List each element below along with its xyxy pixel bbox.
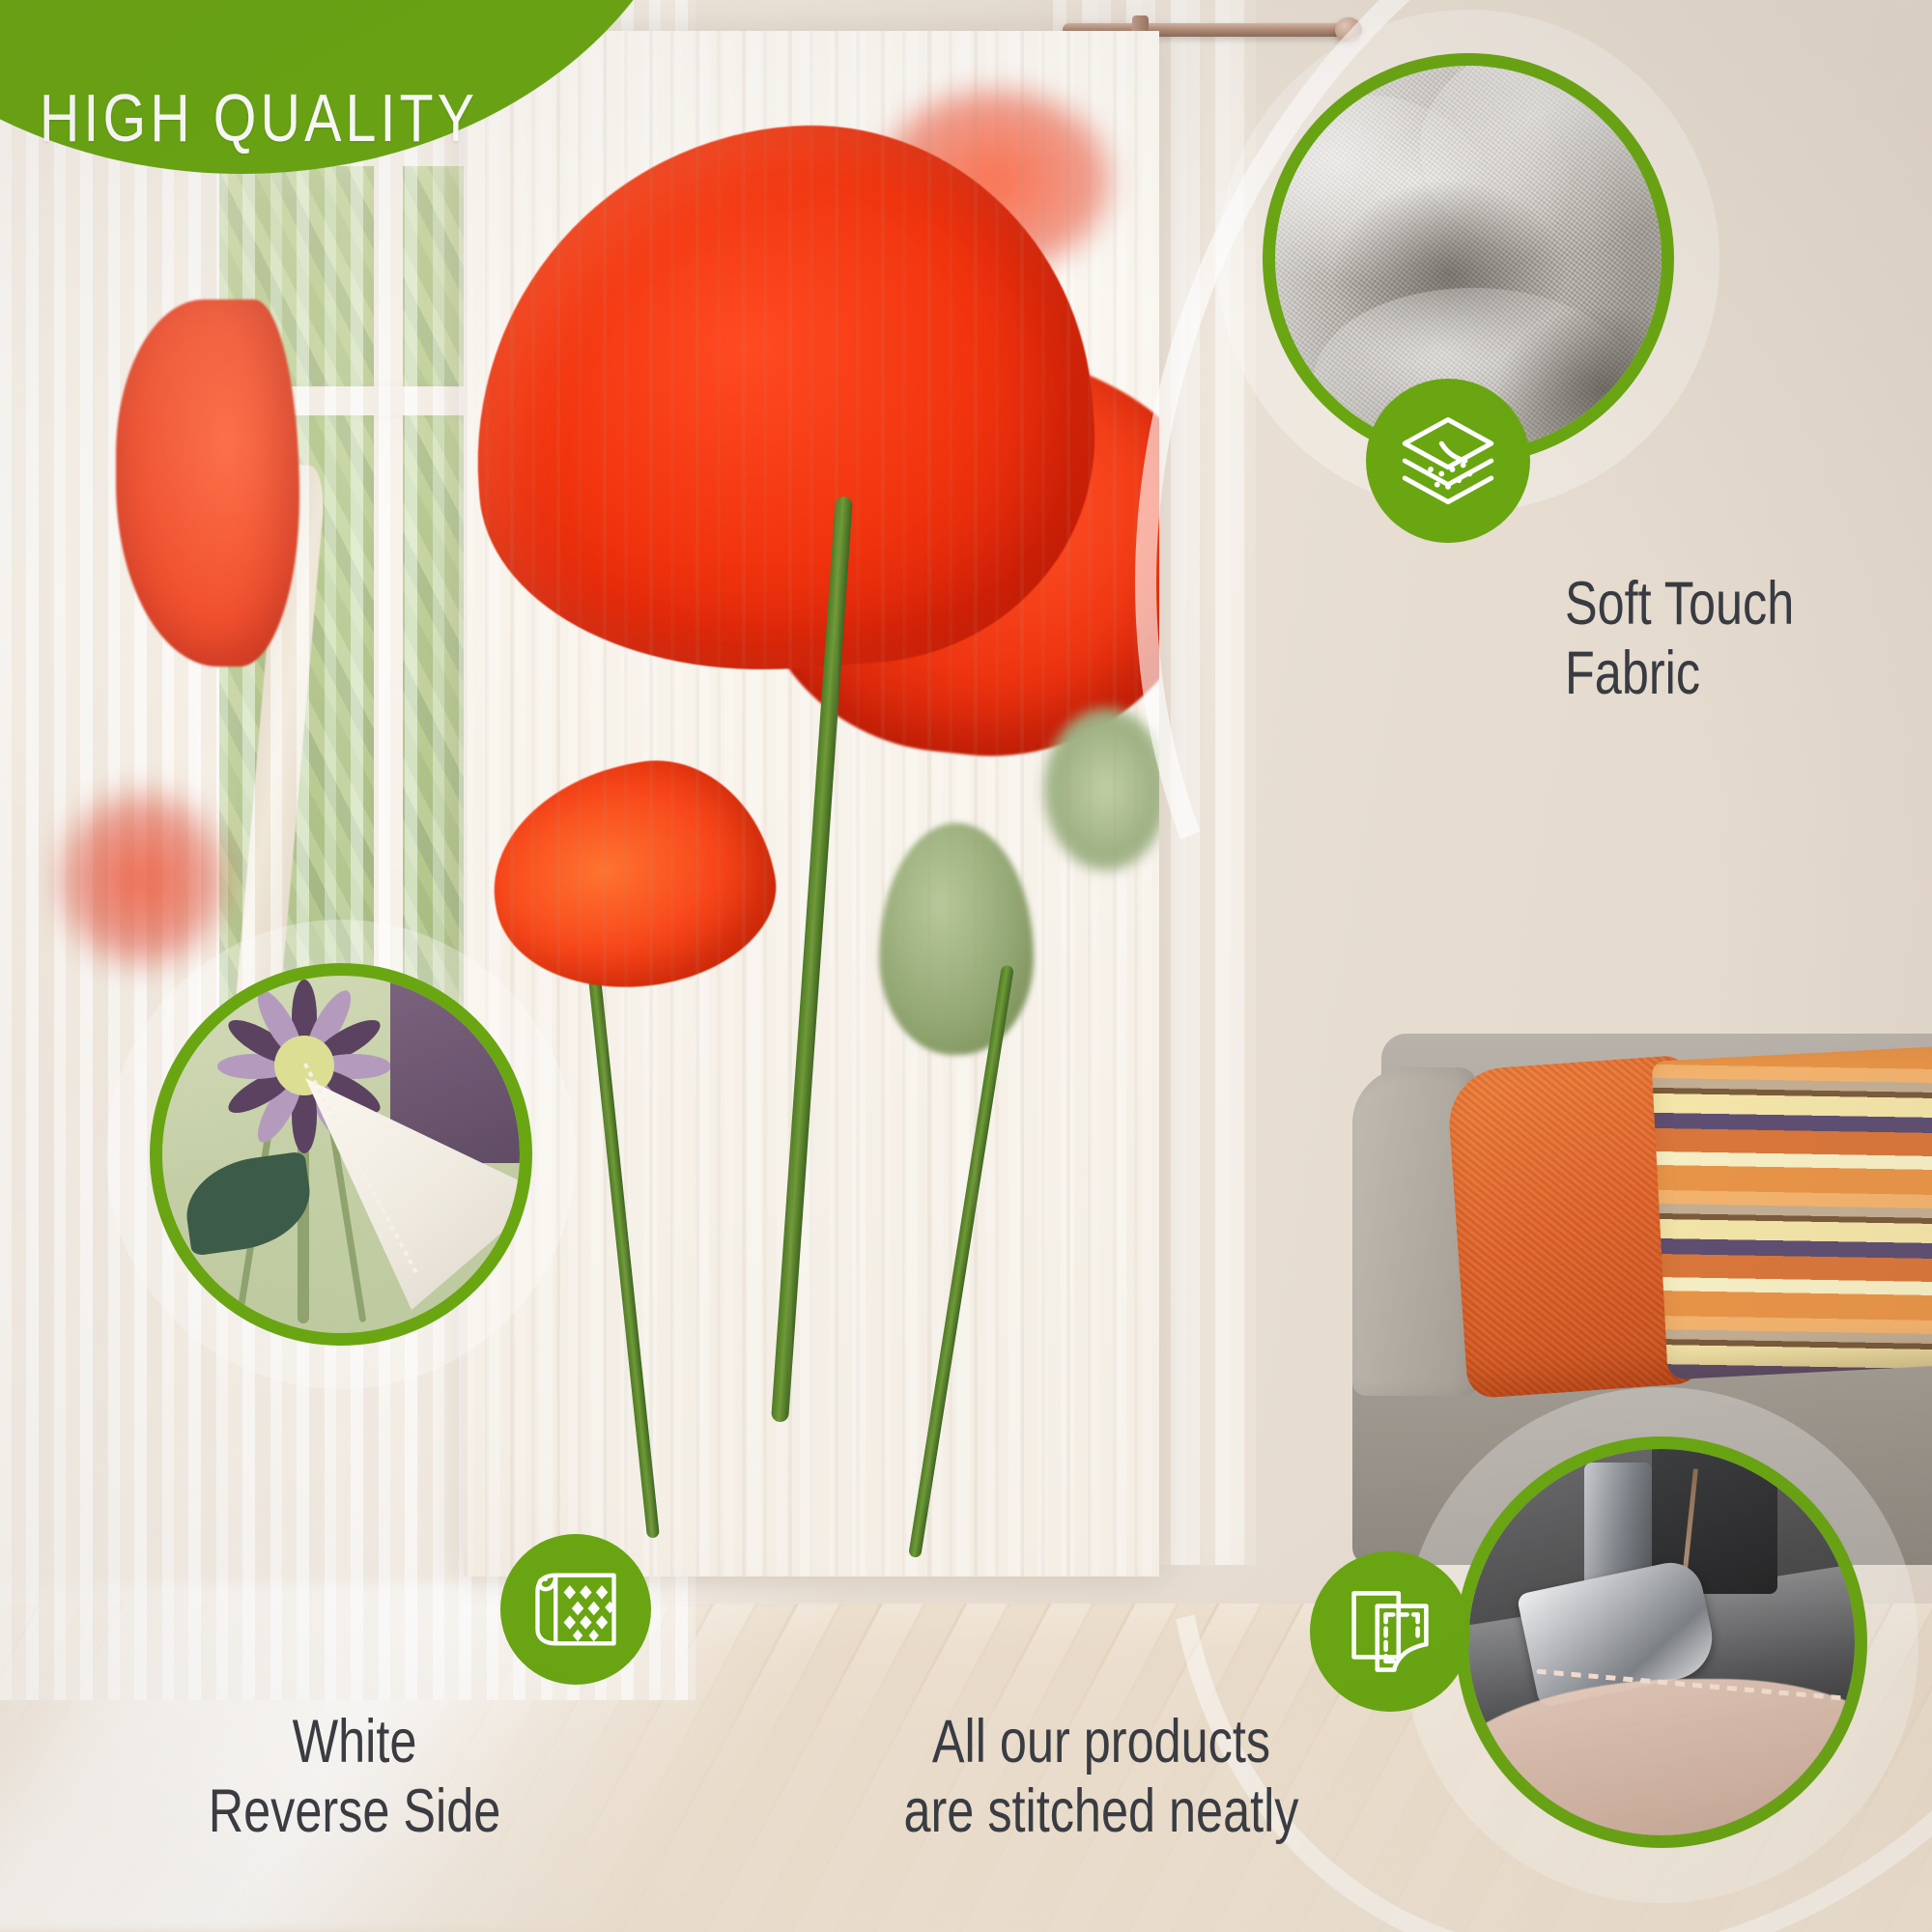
curtain-rod-finial bbox=[1335, 17, 1362, 43]
inset-stitching-photo bbox=[1468, 1449, 1855, 1835]
caption-white-reverse-side: White Reverse Side bbox=[103, 1708, 606, 1847]
inset-white-reverse-photo bbox=[162, 976, 520, 1333]
stitched-panels-icon bbox=[1310, 1551, 1470, 1712]
caption-soft-touch-fabric: Soft Touch Fabric bbox=[1565, 570, 1794, 709]
daisy-leaf bbox=[180, 1151, 317, 1256]
striped-throw-pillow bbox=[1652, 1045, 1932, 1380]
poppy-small bbox=[475, 743, 790, 1010]
fabric-layers-icon bbox=[1366, 379, 1530, 543]
high-quality-label: HIGH QUALITY bbox=[40, 79, 478, 156]
foliage-blur bbox=[1043, 707, 1159, 871]
poppy-stem-left bbox=[586, 961, 660, 1539]
fabric-roll-icon bbox=[500, 1534, 651, 1685]
product-marketing-image: HIGH QUALITY Soft Touch Fabric White Rev… bbox=[0, 0, 1932, 1932]
caption-stitched-neatly: All our products are stitched neatly bbox=[761, 1708, 1441, 1847]
printed-curtain-panel bbox=[464, 31, 1159, 1577]
poppy-bud bbox=[879, 823, 1034, 1055]
